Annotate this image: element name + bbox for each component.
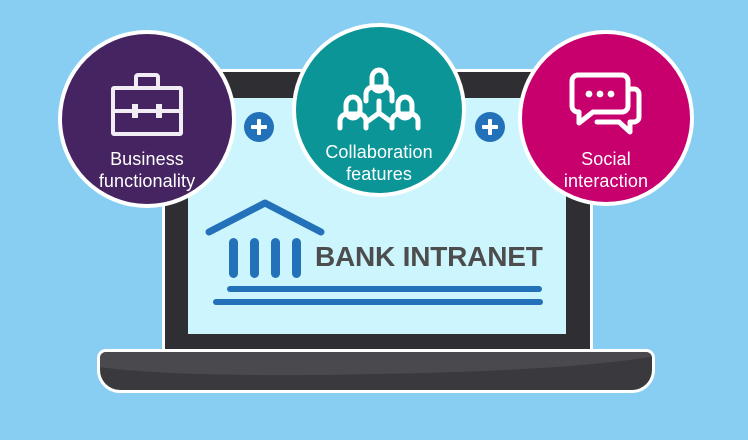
feature-label-line-2: functionality	[99, 170, 195, 192]
feature-label-business: Business functionality	[89, 148, 205, 192]
plus-icon	[244, 112, 274, 142]
feature-label-line-1: Business	[99, 148, 195, 170]
logo-rule-upper	[227, 286, 542, 292]
feature-label-line-2: features	[325, 163, 432, 185]
feature-label-collaboration: Collaboration features	[315, 141, 442, 185]
bank-intranet-logo: BANK INTRANET	[205, 198, 550, 308]
speech-bubbles-icon	[561, 68, 651, 142]
feature-label-line-2: interaction	[564, 170, 648, 192]
feature-label-line-1: Social	[564, 148, 648, 170]
laptop-base-highlight	[100, 352, 652, 380]
people-group-icon	[334, 61, 424, 135]
plus-vertical-bar	[488, 119, 492, 135]
feature-circle-social[interactable]: Social interaction	[522, 34, 690, 202]
feature-circle-collaboration[interactable]: Collaboration features	[296, 27, 462, 193]
feature-label-line-1: Collaboration	[325, 141, 432, 163]
feature-label-social: Social interaction	[554, 148, 658, 192]
infographic-canvas: BANK INTRANET Business functionality	[0, 0, 748, 440]
feature-circle-business[interactable]: Business functionality	[62, 34, 232, 204]
plus-icon	[475, 112, 505, 142]
laptop-base	[100, 352, 652, 390]
plus-vertical-bar	[257, 119, 261, 135]
bank-intranet-title: BANK INTRANET	[315, 241, 543, 273]
bank-columns-icon	[205, 198, 325, 278]
logo-rule-lower	[213, 299, 543, 305]
briefcase-icon	[102, 68, 192, 142]
